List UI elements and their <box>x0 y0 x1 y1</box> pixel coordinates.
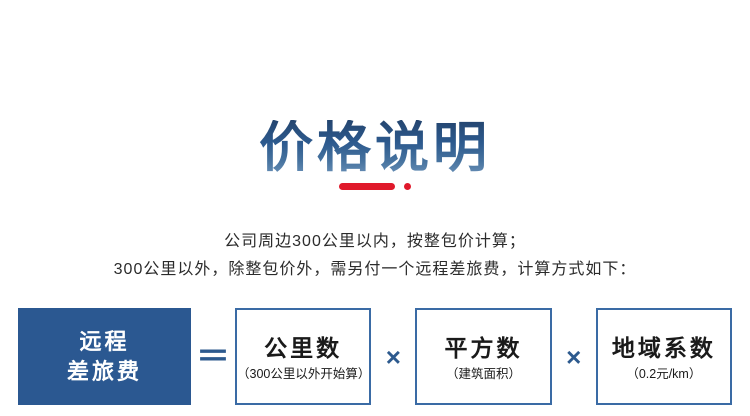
formula-term-distance-title: 公里数 <box>264 333 342 363</box>
formula-term-distance: 公里数 （300公里以外开始算） <box>235 308 371 405</box>
formula-term-region-coefficient-note: （0.2元/km） <box>626 364 701 384</box>
divider-bar-icon <box>339 183 395 190</box>
formula-term-area-title: 平方数 <box>444 333 522 363</box>
formula-result-label-line-2: 差旅费 <box>67 357 142 387</box>
formula-term-region-coefficient: 地域系数 （0.2元/km） <box>596 308 732 405</box>
divider-dot-icon <box>404 183 411 190</box>
operator-equals: ＝ <box>191 340 235 374</box>
formula-result-label-line-1: 远程 <box>79 327 129 357</box>
operator-times-1: × <box>371 344 415 370</box>
page-title-container: 价格说明 <box>0 84 750 213</box>
operator-times-2: × <box>552 344 596 370</box>
formula-term-region-coefficient-title: 地域系数 <box>612 333 716 363</box>
formula-term-area-note: （建筑面积） <box>446 364 521 384</box>
description-line-2: 300公里以外，除整包价外，需另付一个远程差旅费，计算方式如下： <box>0 256 750 284</box>
formula-result-box: 远程 差旅费 <box>18 308 191 405</box>
description-line-1: 公司周边300公里以内，按整包价计算； <box>0 228 750 256</box>
page-title: 价格说明 <box>259 120 491 177</box>
formula-term-area: 平方数 （建筑面积） <box>415 308 551 405</box>
section-divider <box>0 183 750 190</box>
formula-term-distance-note: （300公里以外开始算） <box>237 364 369 384</box>
description-block: 公司周边300公里以内，按整包价计算； 300公里以外，除整包价外，需另付一个远… <box>0 228 750 284</box>
formula-row: 远程 差旅费 ＝ 公里数 （300公里以外开始算） × 平方数 （建筑面积） ×… <box>18 308 732 405</box>
